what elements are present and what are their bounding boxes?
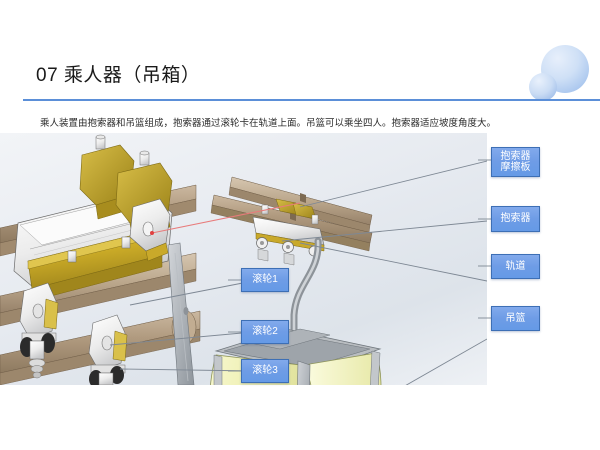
slide-root: 07 乘人器（吊箱） 乘人装置由抱索器和吊篮组成，抱索器通过滚轮卡在轨道上面。吊…: [0, 0, 600, 450]
page-title: 07 乘人器（吊箱）: [36, 60, 200, 87]
callout-roller-2[interactable]: 滚轮2: [241, 320, 289, 344]
title-divider: [23, 99, 600, 101]
callout-grip-friction-plate[interactable]: 抱索器 摩擦板: [491, 147, 540, 177]
cableway-carrier-assembly-3d-drawing: [0, 133, 487, 385]
diagram-stage: [0, 133, 487, 385]
small-blue-circle: [529, 73, 557, 101]
header-decoration: [510, 42, 596, 104]
callout-roller-3[interactable]: 滚轮3: [241, 359, 289, 383]
callout-grip-friction-plate-line1: 抱索器: [501, 151, 531, 163]
slide-subtitle: 乘人装置由抱索器和吊篮组成，抱索器通过滚轮卡在轨道上面。吊篮可以乘坐四人。抱索器…: [40, 117, 570, 131]
callout-grip-friction-plate-line2: 摩擦板: [501, 162, 531, 174]
callout-cabin[interactable]: 吊篮: [491, 306, 540, 331]
roller-hanger-right: [89, 315, 127, 385]
callout-rail[interactable]: 轨道: [491, 254, 540, 279]
callout-roller-3-label: 滚轮3: [252, 365, 278, 377]
large-blue-circle: [541, 45, 589, 93]
callout-rail-label: 轨道: [506, 261, 526, 273]
callout-roller-2-label: 滚轮2: [252, 326, 278, 338]
callout-roller-1[interactable]: 滚轮1: [241, 268, 289, 292]
callout-grip-label: 抱索器: [501, 213, 531, 225]
callout-cabin-label: 吊篮: [506, 313, 526, 325]
cabin: [210, 329, 381, 385]
callout-roller-1-label: 滚轮1: [252, 274, 278, 286]
callout-grip[interactable]: 抱索器: [491, 206, 540, 232]
